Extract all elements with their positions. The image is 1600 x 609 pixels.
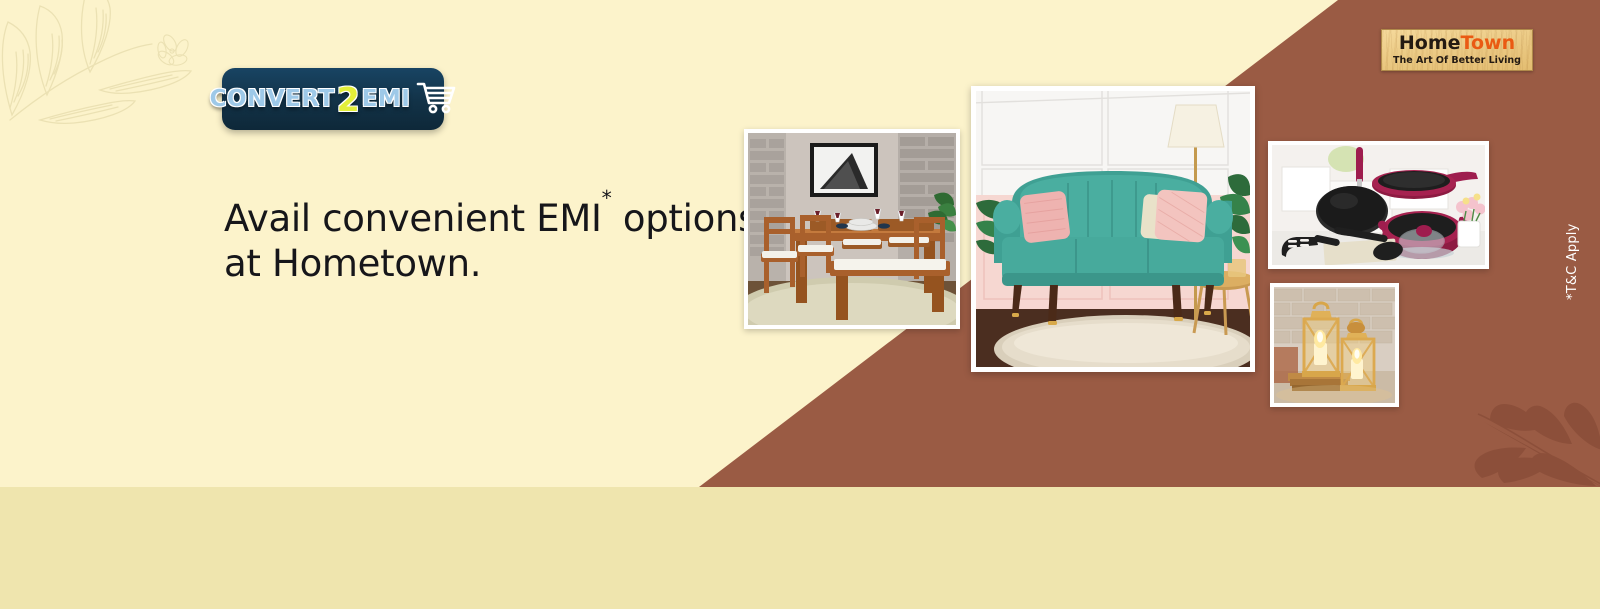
headline-line1-tail: options [611, 197, 757, 240]
background-bottom-band [0, 487, 1600, 609]
cookware-set-illustration [1272, 145, 1485, 265]
product-photo-cookware-set[interactable] [1268, 141, 1489, 269]
shopping-cart-icon [416, 80, 456, 114]
logo-word-home: Home [1399, 32, 1461, 54]
framed-artwork [810, 143, 878, 197]
logo-wordmark: HomeTown [1399, 34, 1515, 53]
badge-text-emi: EMI [362, 86, 411, 112]
terms-conditions-note: *T&C Apply [1565, 224, 1580, 301]
product-photo-dining-set[interactable] [744, 129, 960, 329]
badge-text-numeral-two: 2 [337, 85, 360, 115]
product-photo-sofa[interactable] [971, 86, 1255, 372]
headline-line1-main: Avail convenient EMI [224, 197, 602, 240]
lanterns-illustration [1274, 287, 1395, 403]
convert2emi-badge[interactable]: CONVERT 2 EMI [222, 68, 444, 130]
promo-banner: CONVERT 2 EMI Avail convenient EMI* opti… [0, 0, 1600, 609]
hometown-logo[interactable]: HomeTown The Art Of Better Living [1381, 29, 1533, 71]
logo-word-town: Town [1461, 32, 1516, 54]
product-photo-lanterns[interactable] [1270, 283, 1399, 407]
headline-line2: at Hometown. [224, 242, 481, 285]
headline-asterisk: * [602, 186, 612, 210]
badge-text-convert: CONVERT [210, 86, 335, 112]
dining-set-illustration [748, 133, 956, 325]
logo-tagline: The Art Of Better Living [1393, 56, 1521, 66]
sofa-illustration [976, 91, 1250, 367]
